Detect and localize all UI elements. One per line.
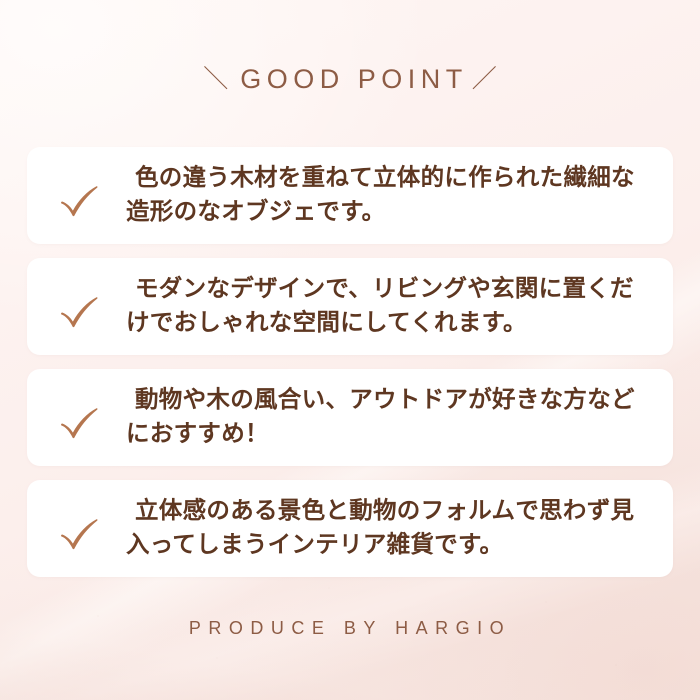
check-icon (53, 175, 105, 227)
good-point-list: 色の違う木材を重ねて立体的に作られた繊細な造形のなオブジェです。 モダンなデザイ… (27, 147, 673, 577)
footer-credit: PRODUCE BY HARGIO (0, 619, 700, 637)
check-icon-cell (31, 268, 126, 343)
check-icon (53, 286, 105, 338)
check-icon (53, 397, 105, 449)
check-icon (53, 508, 105, 560)
good-point-banner: ＼GOOD POINT／ 色の違う木材を重ねて立体的に作られた繊細な造形のなオブ… (0, 0, 700, 700)
list-item-text: 立体感のある景色と動物のフォルムで思わず見入ってしまうインテリア雑貨です。 (126, 494, 659, 562)
title-slash-left-icon: ＼ (203, 67, 228, 92)
title-slash-right-icon: ／ (472, 67, 497, 92)
list-item-text: 色の違う木材を重ねて立体的に作られた繊細な造形のなオブジェです。 (126, 161, 659, 229)
check-icon-cell (31, 379, 126, 454)
check-icon-cell (31, 490, 126, 565)
list-item: 動物や木の風合い、アウトドアが好きな方などにおすすめ！ (27, 369, 673, 466)
list-item: モダンなデザインで、リビングや玄関に置くだけでおしゃれな空間にしてくれます。 (27, 258, 673, 355)
title-text: GOOD POINT (240, 64, 468, 94)
page-title: ＼GOOD POINT／ (0, 66, 700, 93)
list-item: 色の違う木材を重ねて立体的に作られた繊細な造形のなオブジェです。 (27, 147, 673, 244)
list-item-text: モダンなデザインで、リビングや玄関に置くだけでおしゃれな空間にしてくれます。 (126, 272, 659, 340)
check-icon-cell (31, 157, 126, 232)
list-item: 立体感のある景色と動物のフォルムで思わず見入ってしまうインテリア雑貨です。 (27, 480, 673, 577)
list-item-text: 動物や木の風合い、アウトドアが好きな方などにおすすめ！ (126, 383, 659, 451)
